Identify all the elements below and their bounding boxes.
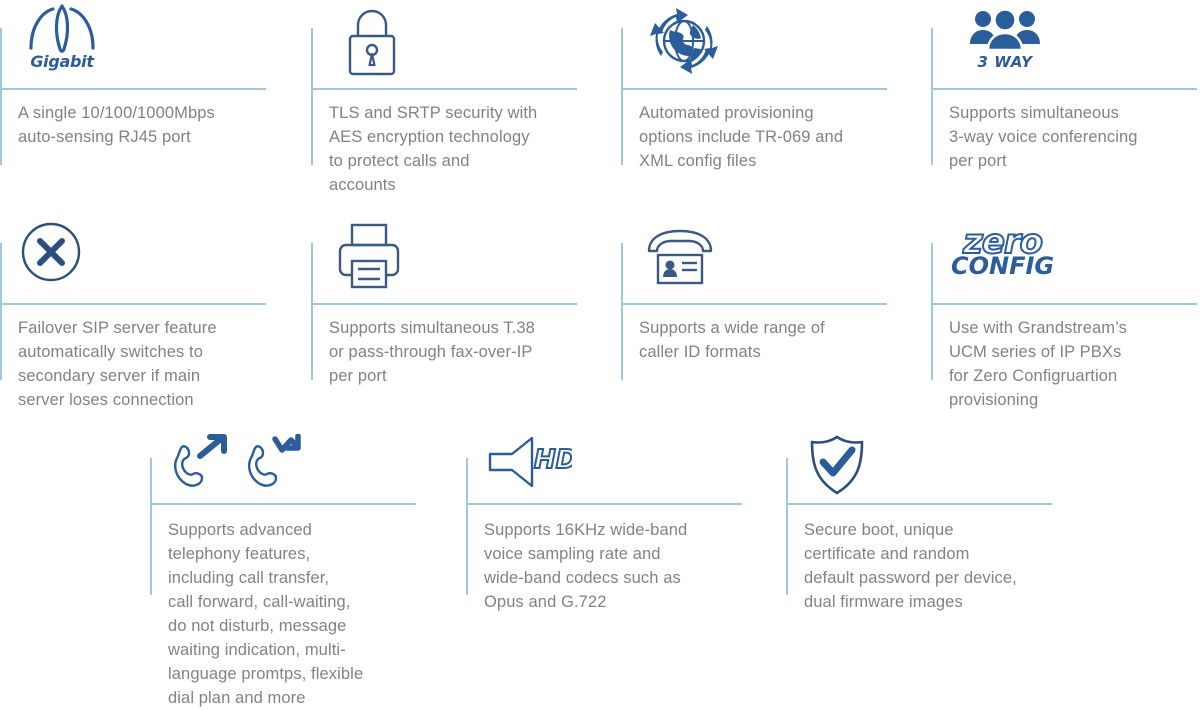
padlock-icon	[341, 4, 403, 78]
gigabit-icon-label: Gigabit	[22, 52, 102, 71]
svg-text:HD: HD	[534, 445, 572, 475]
feature-text-failover-sip-server: Failover SIP server feature automaticall…	[18, 316, 283, 412]
cell-rule-horizontal	[466, 503, 742, 505]
feature-cell-hd-wideband-voice: HD Supports 16KHz wide-band voice sampli…	[466, 430, 756, 687]
feature-cell-gigabit-port: Gigabit A single 10/100/1000Mbps auto-se…	[0, 0, 290, 200]
cell-rule-vertical	[466, 458, 468, 595]
feature-text-tls-srtp-security: TLS and SRTP security with AES encryptio…	[329, 101, 594, 197]
feature-cell-caller-id-formats: Supports a wide range of caller ID forma…	[621, 215, 911, 420]
handset-id-card-icon	[645, 229, 715, 289]
cell-rule-horizontal	[931, 303, 1197, 305]
feature-text-three-way-conferencing: Supports simultaneous 3-way voice confer…	[949, 101, 1200, 173]
cell-rule-horizontal	[311, 88, 577, 90]
circle-x-icon	[20, 221, 82, 283]
feature-cell-automated-provisioning: Automated provisioning options include T…	[621, 0, 911, 200]
call-transfer-forward-icon	[170, 434, 304, 490]
cell-rule-horizontal	[311, 303, 577, 305]
cell-rule-vertical	[311, 28, 313, 165]
cell-rule-horizontal	[0, 303, 266, 305]
cell-rule-vertical	[0, 243, 2, 380]
cell-rule-vertical	[931, 243, 933, 380]
zero-config-logo-icon: zero CONFIG	[951, 229, 1054, 277]
cell-rule-vertical	[786, 458, 788, 595]
cell-rule-horizontal	[786, 503, 1052, 505]
feature-text-secure-boot: Secure boot, unique certificate and rand…	[804, 518, 1074, 614]
cell-rule-horizontal	[150, 503, 416, 505]
cell-rule-vertical	[0, 28, 2, 165]
feature-cell-zero-config: zero CONFIG Use with Grandstream’s UCM s…	[931, 215, 1200, 420]
cell-rule-vertical	[621, 28, 623, 165]
cell-rule-vertical	[621, 243, 623, 380]
shield-check-icon	[808, 434, 866, 496]
three-way-icon-label: 3 WAY	[967, 53, 1043, 71]
cell-rule-vertical	[311, 243, 313, 380]
feature-cell-secure-boot: Secure boot, unique certificate and rand…	[786, 430, 1076, 687]
cell-rule-horizontal	[621, 88, 887, 90]
gigabit-arcs-icon: Gigabit	[22, 2, 102, 71]
zero-config-bottom-word: CONFIG	[951, 257, 1054, 277]
feature-text-gigabit-port: A single 10/100/1000Mbps auto-sensing RJ…	[18, 101, 278, 149]
feature-cell-three-way-conferencing: 3 WAY Supports simultaneous 3-way voice …	[931, 0, 1200, 200]
fax-printer-icon	[333, 221, 405, 291]
feature-text-hd-wideband-voice: Supports 16KHz wide-band voice sampling …	[484, 518, 749, 614]
feature-text-caller-id-formats: Supports a wide range of caller ID forma…	[639, 316, 904, 364]
cell-rule-vertical	[931, 28, 933, 165]
feature-cell-fax-over-ip: Supports simultaneous T.38 or pass-throu…	[311, 215, 601, 420]
feature-grid: Gigabit A single 10/100/1000Mbps auto-se…	[0, 0, 1200, 687]
cell-rule-horizontal	[931, 88, 1197, 90]
hd-speaker-icon: HD	[486, 436, 572, 490]
three-people-icon: 3 WAY	[967, 8, 1043, 71]
feature-cell-tls-srtp-security: TLS and SRTP security with AES encryptio…	[311, 0, 601, 200]
feature-text-zero-config: Use with Grandstream’s UCM series of IP …	[949, 316, 1199, 412]
feature-cell-failover-sip-server: Failover SIP server feature automaticall…	[0, 215, 290, 420]
feature-text-advanced-telephony: Supports advanced telephony features, in…	[168, 518, 423, 710]
cell-rule-horizontal	[621, 303, 887, 305]
feature-text-fax-over-ip: Supports simultaneous T.38 or pass-throu…	[329, 316, 599, 388]
globe-refresh-icon	[643, 0, 725, 82]
cell-rule-vertical	[150, 458, 152, 595]
feature-cell-advanced-telephony: Supports advanced telephony features, in…	[150, 430, 440, 687]
cell-rule-horizontal	[0, 88, 266, 90]
feature-text-automated-provisioning: Automated provisioning options include T…	[639, 101, 904, 173]
